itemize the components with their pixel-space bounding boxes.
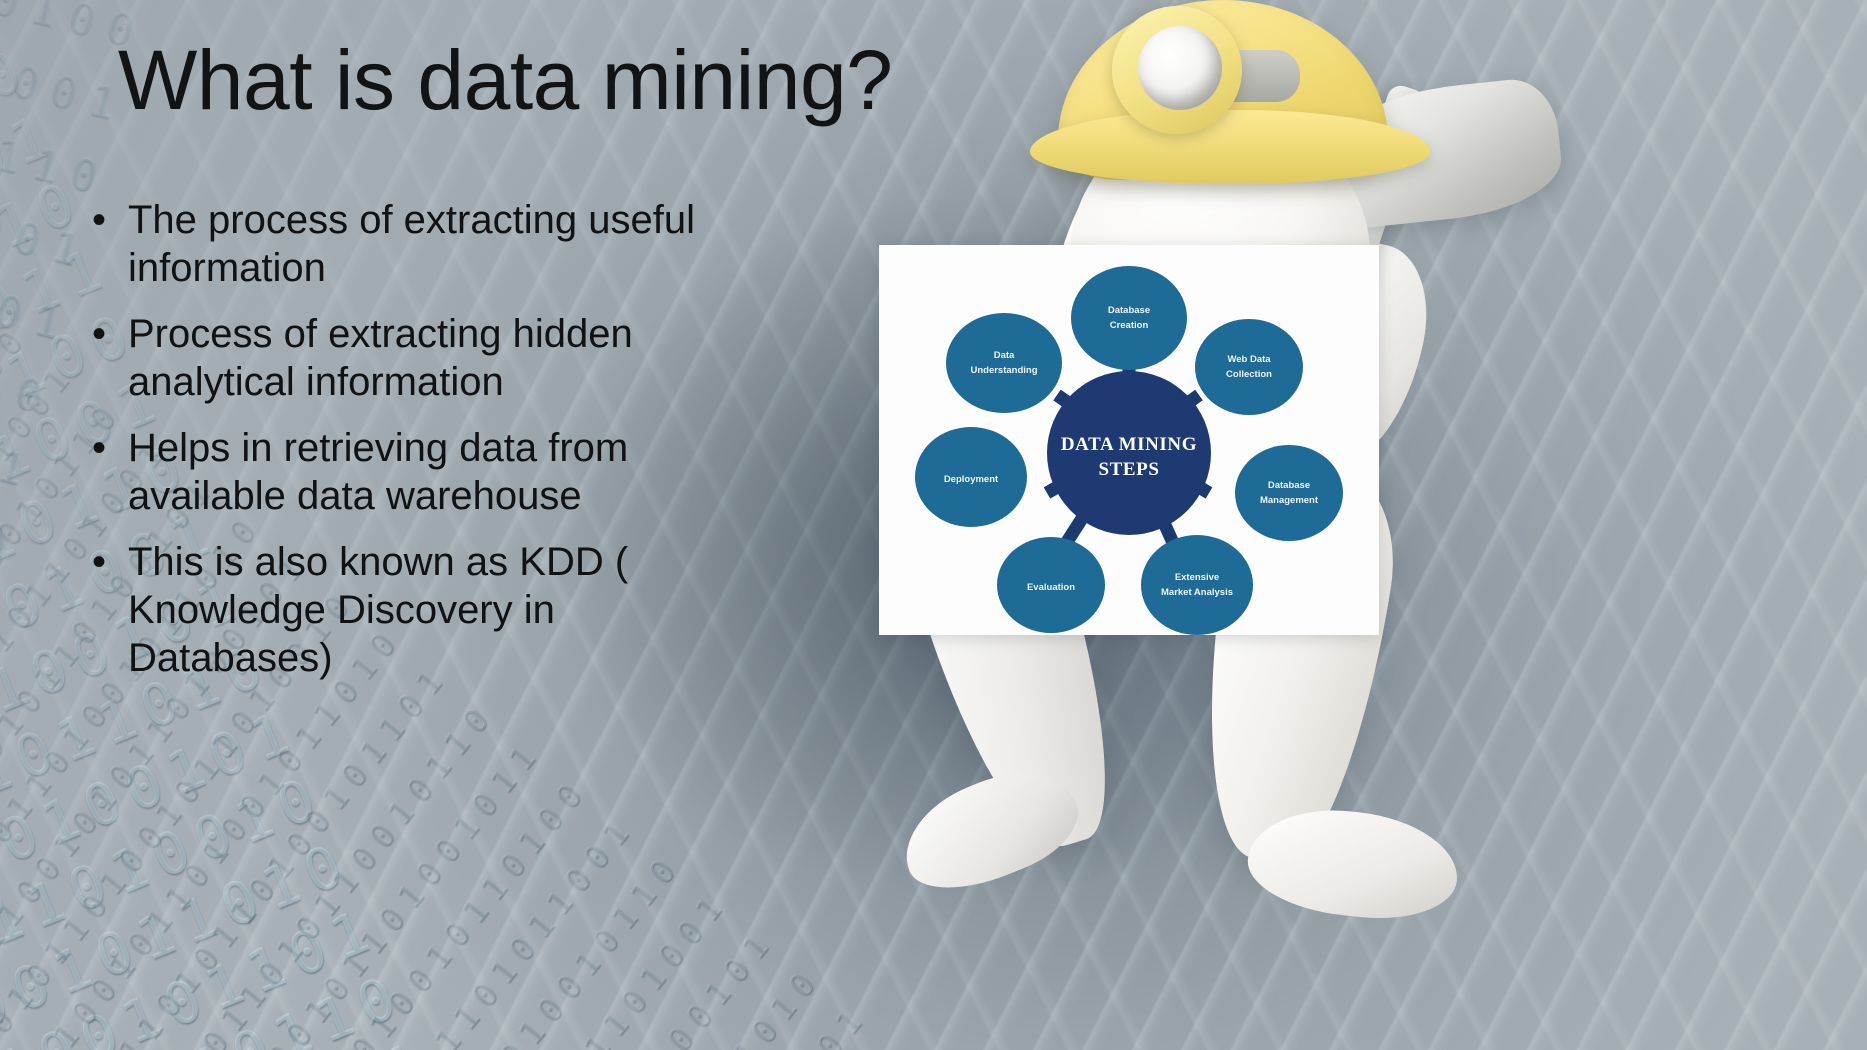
presentation-slide: 1011001010110100101 0101101001011010010 … bbox=[0, 0, 1867, 1050]
diagram-node-database-creation bbox=[1071, 266, 1187, 370]
diagram-center-label-line1: DATA MINING bbox=[1061, 434, 1197, 455]
diagram-node-label-evaluation-l1: Evaluation bbox=[1027, 582, 1075, 593]
bullet-item: • Process of extracting hidden analytica… bbox=[92, 310, 712, 406]
diagram-node-label-extensive-market-analysis-l2: Market Analysis bbox=[1161, 587, 1233, 598]
diagram-node-label-database-creation-l1: Database bbox=[1108, 305, 1150, 316]
bullet-marker-icon: • bbox=[92, 310, 128, 358]
diagram-node-web-data-collection bbox=[1195, 319, 1303, 415]
slide-title: What is data mining? bbox=[118, 36, 892, 125]
bullet-text: The process of extracting useful informa… bbox=[128, 196, 712, 292]
data-mining-steps-diagram: DATA MINING STEPS Database Creation Web … bbox=[879, 245, 1379, 635]
slide-body-bullet-list: • The process of extracting useful infor… bbox=[92, 196, 712, 700]
bullet-item: • The process of extracting useful infor… bbox=[92, 196, 712, 292]
diagram-node-label-data-understanding-l1: Data bbox=[994, 350, 1015, 361]
diagram-node-label-database-creation-l2: Creation bbox=[1110, 320, 1149, 331]
diagram-node-label-database-management-l2: Management bbox=[1260, 495, 1319, 506]
bullet-marker-icon: • bbox=[92, 424, 128, 472]
diagram-node-label-data-understanding-l2: Understanding bbox=[970, 365, 1037, 376]
bullet-text: Process of extracting hidden analytical … bbox=[128, 310, 712, 406]
helmet-lamp-icon bbox=[1138, 26, 1222, 110]
diagram-node-label-web-data-collection-l1: Web Data bbox=[1227, 354, 1271, 365]
diagram-center-label-line2: STEPS bbox=[1098, 459, 1159, 480]
bullet-text: This is also known as KDD ( Knowledge Di… bbox=[128, 538, 712, 682]
bullet-item: • Helps in retrieving data from availabl… bbox=[92, 424, 712, 520]
bullet-item: • This is also known as KDD ( Knowledge … bbox=[92, 538, 712, 682]
miner-helmet-brim bbox=[1030, 110, 1430, 184]
bullet-marker-icon: • bbox=[92, 196, 128, 244]
diagram-node-extensive-market-analysis bbox=[1141, 535, 1253, 635]
diagram-node-label-deployment-l1: Deployment bbox=[944, 474, 999, 485]
diagram-node-data-understanding bbox=[946, 313, 1062, 413]
diagram-node-label-database-management-l1: Database bbox=[1268, 480, 1310, 491]
diagram-node-database-management bbox=[1235, 445, 1343, 541]
bullet-marker-icon: • bbox=[92, 538, 128, 586]
diagram-node-label-web-data-collection-l2: Collection bbox=[1226, 369, 1272, 380]
diagram-node-label-extensive-market-analysis-l1: Extensive bbox=[1175, 572, 1219, 583]
bullet-text: Helps in retrieving data from available … bbox=[128, 424, 712, 520]
